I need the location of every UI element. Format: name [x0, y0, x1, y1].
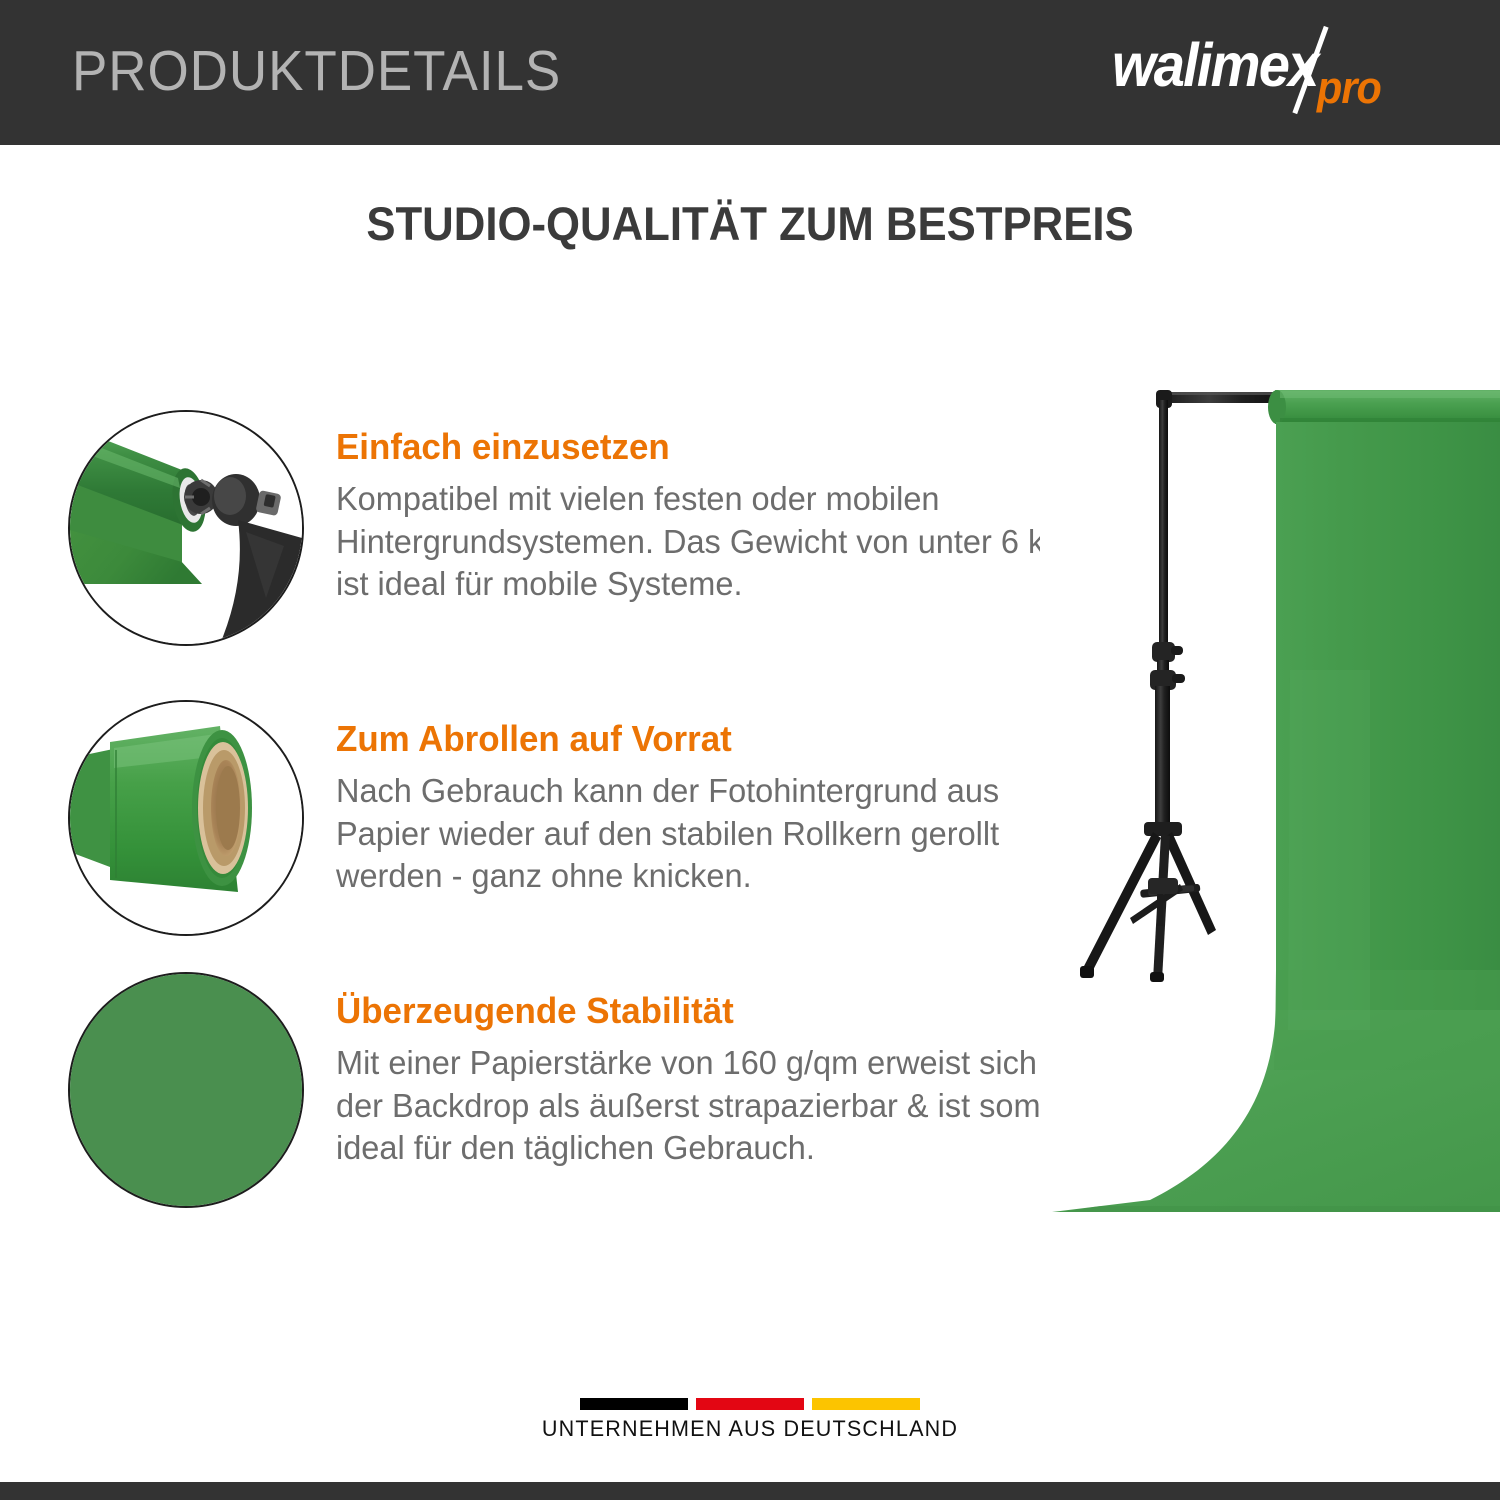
logo-suffix-text: pro: [1317, 62, 1381, 114]
feature-image-3: [68, 972, 304, 1208]
footer-bar: [0, 1482, 1500, 1500]
product-detail-sheet: PRODUKTDETAILS walimex pro STUDIO-QUALIT…: [0, 0, 1500, 1500]
paper-roll-expander-icon: [70, 412, 302, 644]
flag-bar-black: [580, 1398, 688, 1410]
feature-text-3: Überzeugende Stabilität Mit einer Papier…: [336, 990, 1096, 1170]
feature-image-2: [68, 700, 304, 936]
feature-text-1: Einfach einzusetzen Kompatibel mit viele…: [336, 426, 1096, 606]
german-flag-bars: [0, 1398, 1500, 1410]
feature-text-2: Zum Abrollen auf Vorrat Nach Gebrauch ka…: [336, 718, 1096, 898]
feature-heading-3: Überzeugende Stabilität: [336, 990, 1073, 1032]
feature-body-2: Nach Gebrauch kann der Fotohintergrund a…: [336, 770, 1085, 898]
flag-bar-red: [696, 1398, 804, 1410]
footer-caption: UNTERNEHMEN AUS DEUTSCHLAND: [15, 1416, 1485, 1442]
feature-body-3: Mit einer Papierstärke von 160 g/qm erwe…: [336, 1042, 1085, 1170]
flag-bar-gold: [812, 1398, 920, 1410]
feature-image-1: [68, 410, 304, 646]
feature-heading-1: Einfach einzusetzen: [336, 426, 1073, 468]
paper-roll-core-icon: [70, 702, 302, 934]
walimex-pro-logo: walimex pro: [1112, 26, 1442, 121]
logo-brand-text: walimex: [1112, 30, 1317, 100]
green-color-swatch: [70, 974, 302, 1206]
product-photo: [1040, 370, 1500, 1220]
feature-body-1: Kompatibel mit vielen festen oder mobile…: [336, 478, 1085, 606]
feature-heading-2: Zum Abrollen auf Vorrat: [336, 718, 1073, 760]
section-headline: STUDIO-QUALITÄT ZUM BESTPREIS: [53, 196, 1448, 251]
page-title: PRODUKTDETAILS: [72, 38, 561, 104]
backdrop-stand-illustration: [1040, 370, 1500, 1220]
made-in-germany-badge: UNTERNEHMEN AUS DEUTSCHLAND: [0, 1398, 1500, 1442]
